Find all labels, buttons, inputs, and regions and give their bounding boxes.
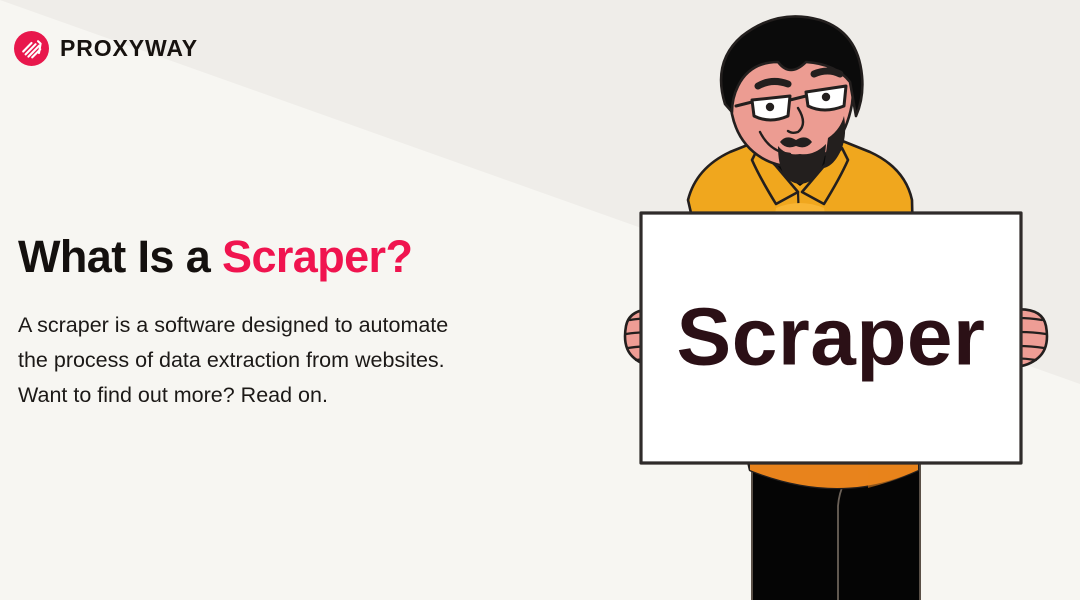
proxyway-logo-icon [14,31,49,66]
brand-logo[interactable]: PROXYWAY [14,31,198,66]
body-paragraph: A scraper is a software designed to auto… [18,308,598,413]
body-line-1: A scraper is a software designed to auto… [18,308,598,343]
body-line-2: the process of data extraction from webs… [18,343,598,378]
body-line-3: Want to find out more? Read on. [18,378,598,413]
headline-accent-text: Scraper? [222,231,412,282]
man-holding-sign-illustration: Scraper [600,0,1080,600]
poster-canvas: PROXYWAY What Is a Scraper? A scraper is… [0,0,1080,600]
brand-wordmark: PROXYWAY [60,37,198,60]
sign-label: Scraper [677,292,986,383]
headline-plain-text: What Is a [18,231,222,282]
page-title: What Is a Scraper? [18,232,412,282]
